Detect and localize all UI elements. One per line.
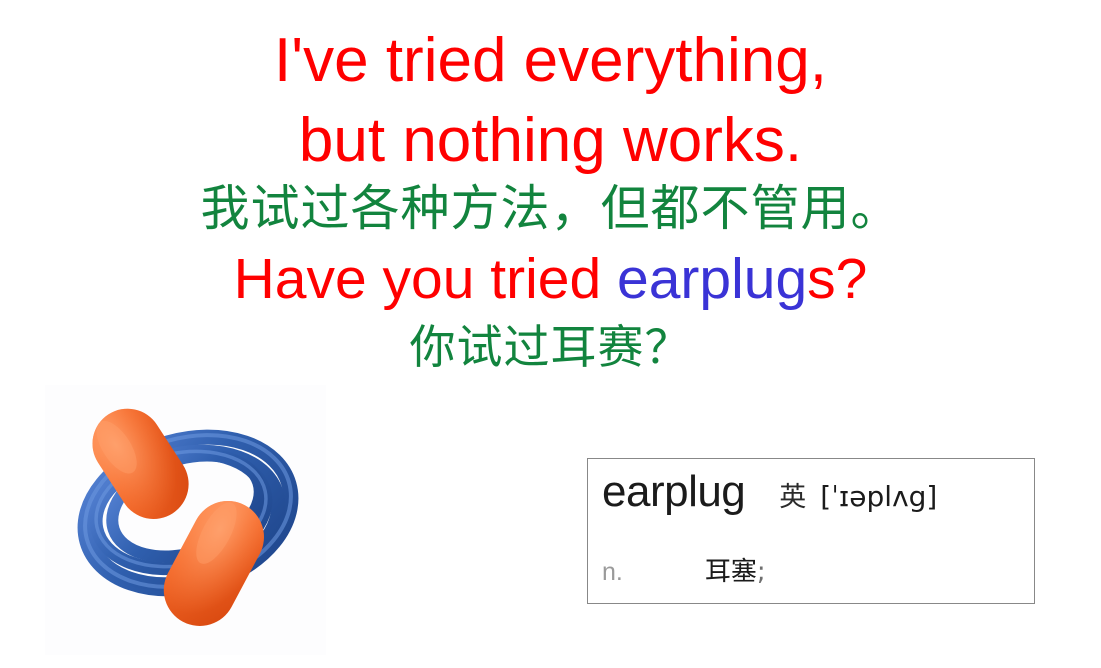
dictionary-card: earplug 英 [ˈɪəplʌg] n. 耳塞;	[587, 458, 1035, 604]
slide-canvas: I've tried everything, but nothing works…	[0, 0, 1101, 668]
english-line-1: I've tried everything,	[0, 14, 1101, 92]
dictionary-accent-label: 英	[779, 475, 806, 514]
dictionary-definition: 耳塞	[705, 551, 757, 588]
dictionary-definition-punctuation: ;	[757, 557, 766, 587]
keyword-earplug: earplug	[617, 247, 807, 311]
earplug-product-photo	[45, 385, 326, 655]
dictionary-headword: earplug	[602, 467, 745, 517]
dictionary-definition-row: n. 耳塞;	[602, 551, 766, 588]
dictionary-phonetic: [ˈɪəplʌg]	[820, 480, 937, 513]
dictionary-part-of-speech: n.	[602, 558, 623, 587]
earplug-illustration	[45, 385, 326, 655]
chinese-line-2: 你试过耳赛？	[0, 324, 1101, 370]
chinese-line-1: 我试过各种方法，但都不管用。	[0, 184, 1101, 233]
dialogue-text-block: I've tried everything, but nothing works…	[0, 14, 1101, 370]
english-line-3-prefix: Have you tried	[234, 247, 617, 311]
english-line-3: Have you tried earplugs?	[0, 251, 1101, 308]
english-line-2: but nothing works.	[0, 110, 1101, 172]
english-line-3-suffix: s?	[807, 247, 867, 311]
dictionary-headword-row: earplug 英 [ˈɪəplʌg]	[602, 467, 937, 517]
